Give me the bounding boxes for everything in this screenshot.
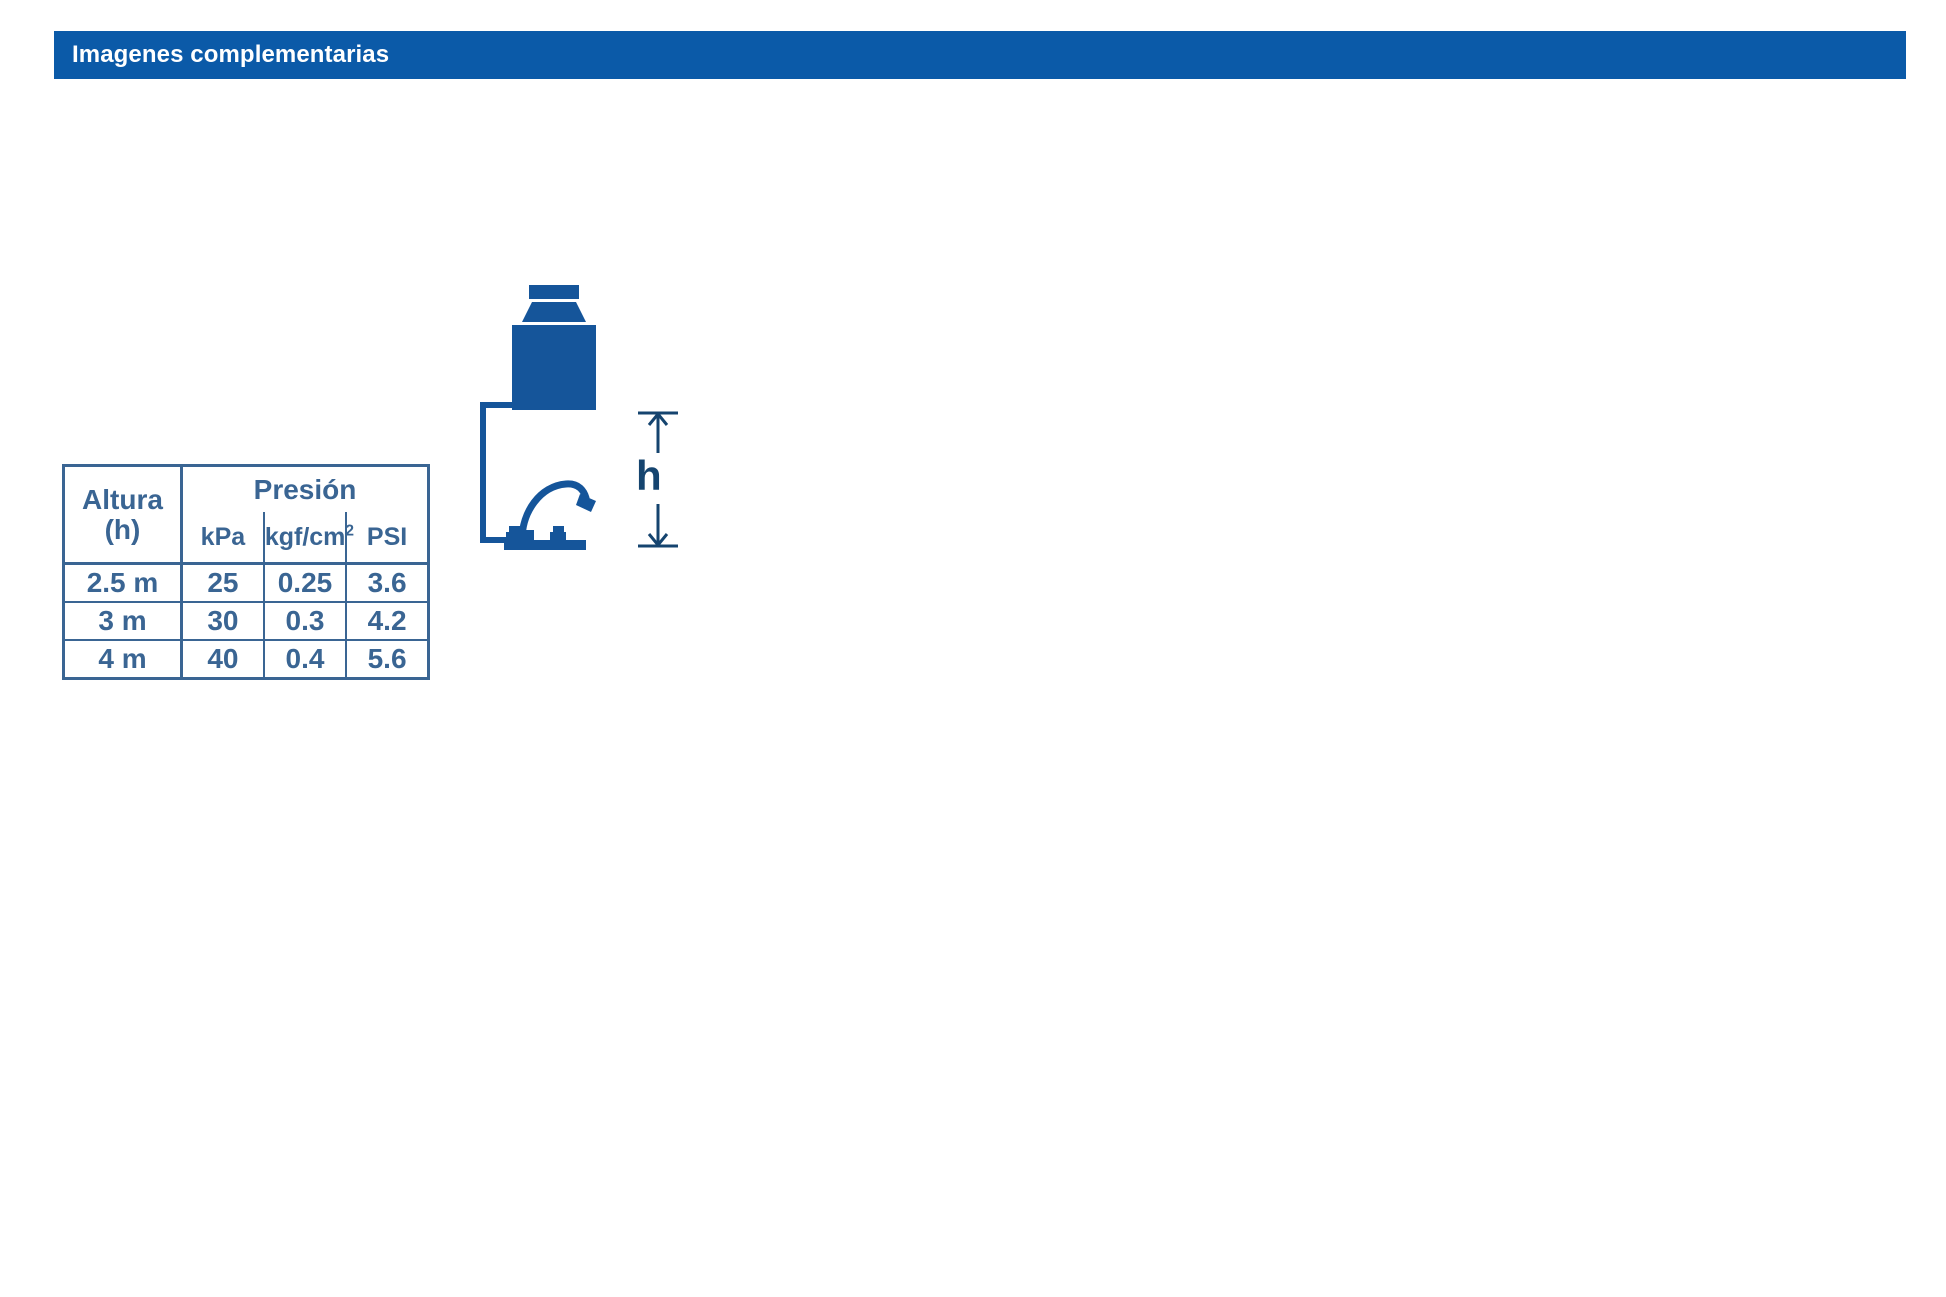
faucet-nozzle-icon [576, 494, 596, 512]
column-header-altura-line2: (h) [65, 515, 180, 545]
cell-kgf: 0.4 [264, 640, 346, 679]
cell-kpa: 40 [182, 640, 264, 679]
sink-deck-plate-icon [504, 540, 586, 550]
tank-cap-icon [529, 285, 579, 299]
tank-shoulder-icon [522, 302, 586, 322]
column-header-presion-group: Presión [182, 466, 429, 513]
cell-kgf: 0.25 [264, 564, 346, 602]
faucet-handle-left-icon [506, 526, 522, 541]
column-header-psi: PSI [346, 512, 428, 563]
supply-pipe-icon [483, 405, 528, 540]
height-dimension-label: h [636, 452, 662, 500]
cell-kpa: 25 [182, 564, 264, 602]
cell-psi: 5.6 [346, 640, 428, 679]
cell-altura: 3 m [64, 602, 182, 640]
column-header-kgf-cm2: kgf/cm2 [264, 512, 346, 563]
column-header-altura: Altura (h) [64, 466, 182, 564]
column-header-kgf-base: kgf/cm [265, 523, 346, 551]
column-header-altura-line1: Altura [65, 485, 180, 515]
section-header-banner: Imagenes complementarias [54, 31, 1906, 79]
cell-kgf: 0.3 [264, 602, 346, 640]
cell-psi: 4.2 [346, 602, 428, 640]
cell-kpa: 30 [182, 602, 264, 640]
page-title: Imagenes complementarias [54, 41, 389, 69]
table-row: 4 m 40 0.4 5.6 [64, 640, 429, 679]
pressure-table: Altura (h) Presión kPa kgf/cm2 PSI 2.5 m… [62, 464, 430, 680]
page-root: Imagenes complementarias Altura (h) Pres… [0, 0, 1946, 1297]
tank-body-icon [512, 325, 596, 410]
table-header-row: Altura (h) Presión [64, 466, 429, 513]
cell-psi: 3.6 [346, 564, 428, 602]
altura-presion-table: Altura (h) Presión kPa kgf/cm2 PSI 2.5 m… [62, 464, 430, 680]
table-row: 2.5 m 25 0.25 3.6 [64, 564, 429, 602]
column-header-kpa: kPa [182, 512, 264, 563]
cell-altura: 4 m [64, 640, 182, 679]
water-tank-faucet-diagram [466, 272, 696, 562]
cell-altura: 2.5 m [64, 564, 182, 602]
column-header-kgf-exponent: 2 [345, 522, 354, 539]
table-row: 3 m 30 0.3 4.2 [64, 602, 429, 640]
faucet-handle-right-icon [550, 526, 566, 541]
